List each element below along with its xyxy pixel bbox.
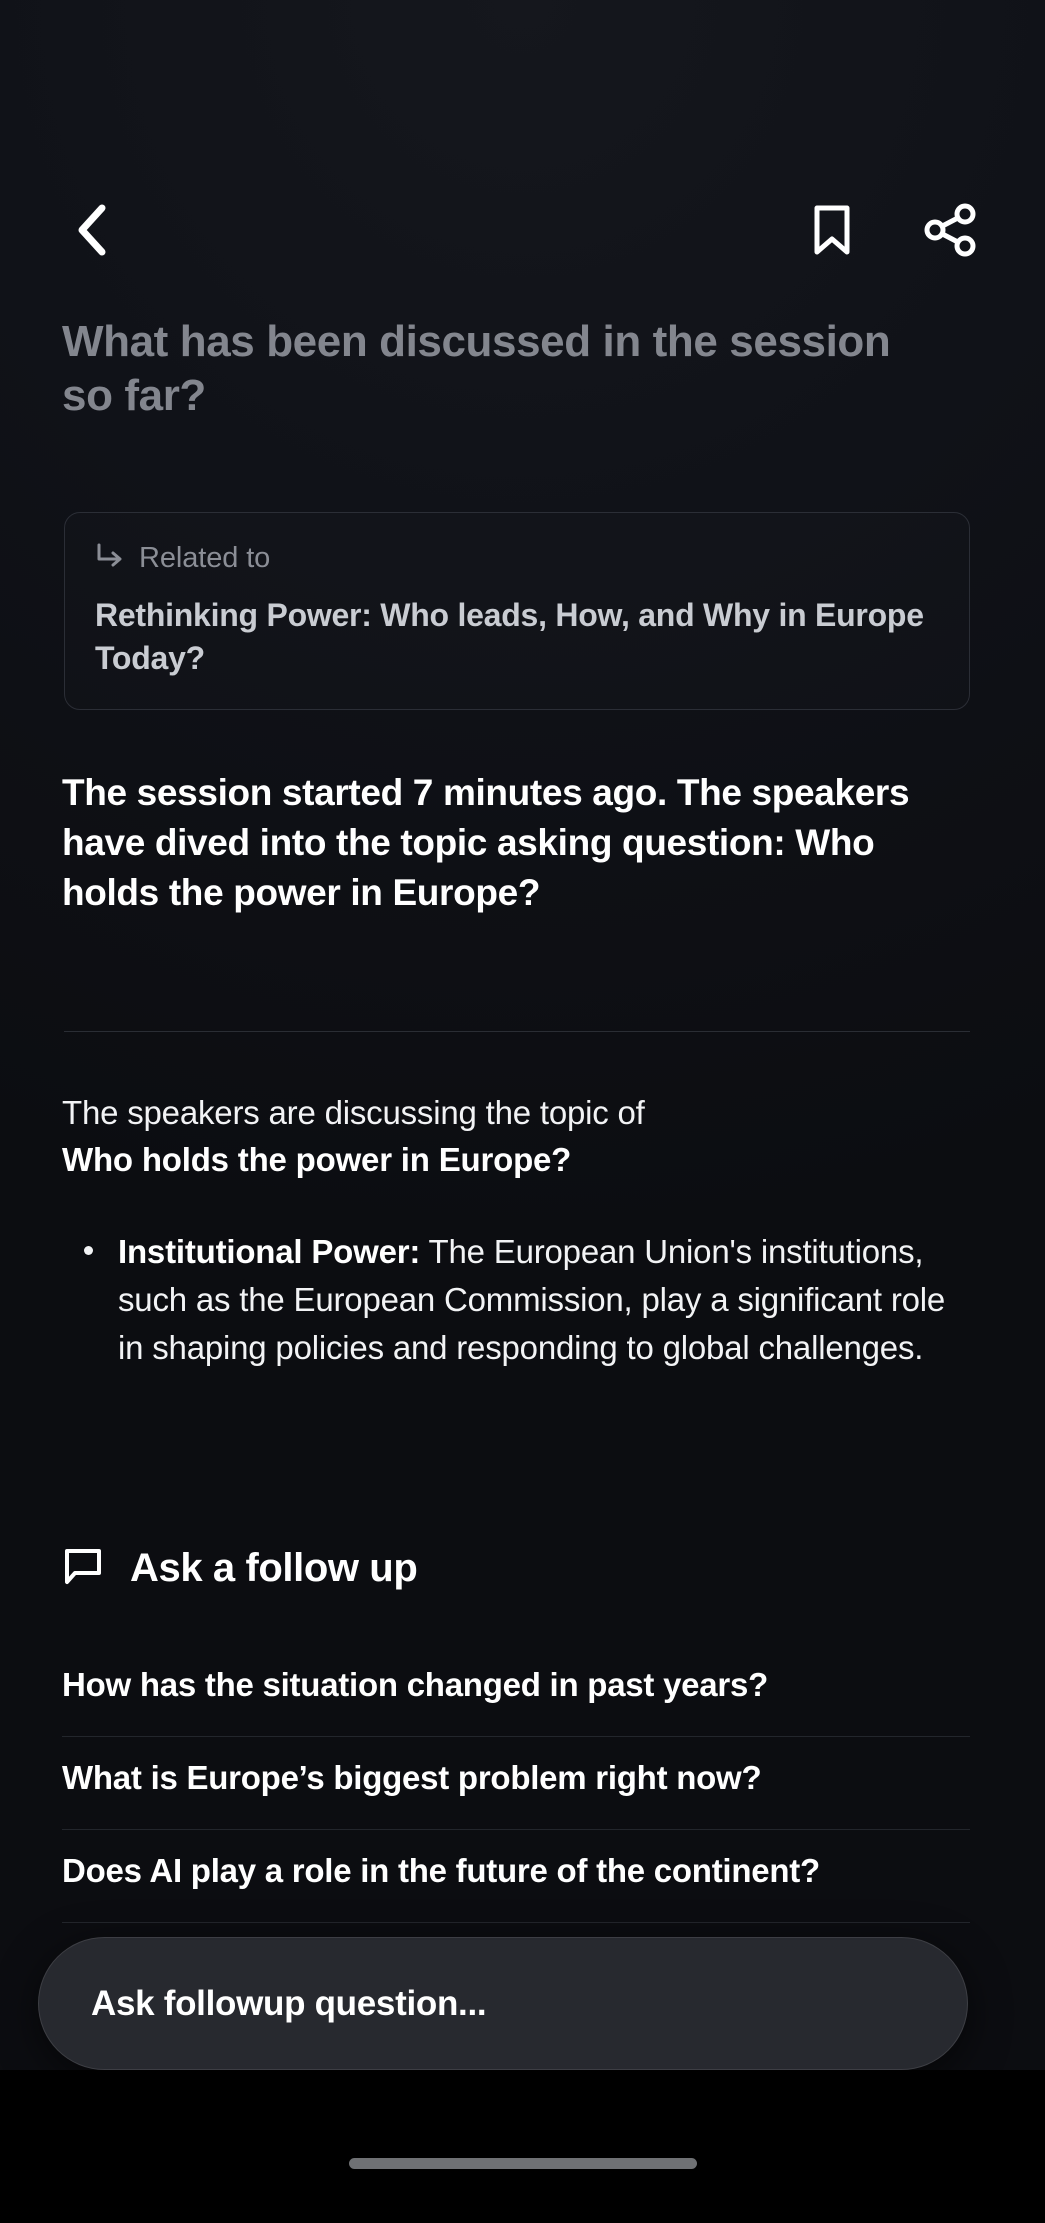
discussion-points-list: Institutional Power: The European Union'… [62, 1228, 972, 1372]
related-to-header: Related to [95, 541, 939, 576]
ask-followup-input[interactable]: Ask followup question... [38, 1937, 968, 2070]
follow-up-question-3[interactable]: Does AI play a role in the future of the… [62, 1830, 970, 1923]
follow-up-question-1[interactable]: How has the situation changed in past ye… [62, 1652, 970, 1737]
phone-screen: What has been discussed in the session s… [0, 0, 1045, 2223]
related-to-label: Related to [139, 542, 270, 575]
topic-intro-prefix: The speakers are discussing the topic of [62, 1094, 645, 1131]
corner-down-right-arrow-icon [95, 541, 125, 576]
list-item: Institutional Power: The European Union'… [62, 1228, 972, 1372]
bullet-term: Institutional Power: [118, 1233, 420, 1270]
follow-up-question-2[interactable]: What is Europe’s biggest problem right n… [62, 1737, 970, 1830]
bullet-dot-icon [84, 1246, 93, 1255]
nav-left-group [60, 199, 122, 261]
section-divider [64, 1031, 970, 1032]
top-navigation-bar [0, 175, 1045, 285]
chevron-left-icon [72, 202, 110, 258]
related-to-title: Rethinking Power: Who leads, How, and Wh… [95, 594, 939, 679]
discussion-topic-intro: The speakers are discussing the topic of… [62, 1090, 962, 1184]
share-icon [923, 203, 977, 257]
ask-follow-up-header: Ask a follow up [62, 1545, 417, 1592]
session-summary-lead: The session started 7 minutes ago. The s… [62, 768, 962, 918]
page-title: What has been discussed in the session s… [62, 315, 902, 422]
ask-follow-up-title: Ask a follow up [130, 1546, 417, 1591]
message-square-icon [62, 1545, 104, 1592]
ask-followup-placeholder: Ask followup question... [91, 1984, 486, 2024]
bookmark-button[interactable] [801, 199, 863, 261]
back-button[interactable] [60, 199, 122, 261]
topic-intro-question: Who holds the power in Europe? [62, 1141, 571, 1178]
nav-right-group [801, 199, 981, 261]
bookmark-icon [810, 203, 854, 257]
content-sheet: What has been discussed in the session s… [0, 0, 1045, 2070]
home-indicator [349, 2158, 697, 2169]
related-to-card[interactable]: Related to Rethinking Power: Who leads, … [64, 512, 970, 710]
share-button[interactable] [919, 199, 981, 261]
follow-up-question-list: How has the situation changed in past ye… [62, 1652, 970, 1923]
